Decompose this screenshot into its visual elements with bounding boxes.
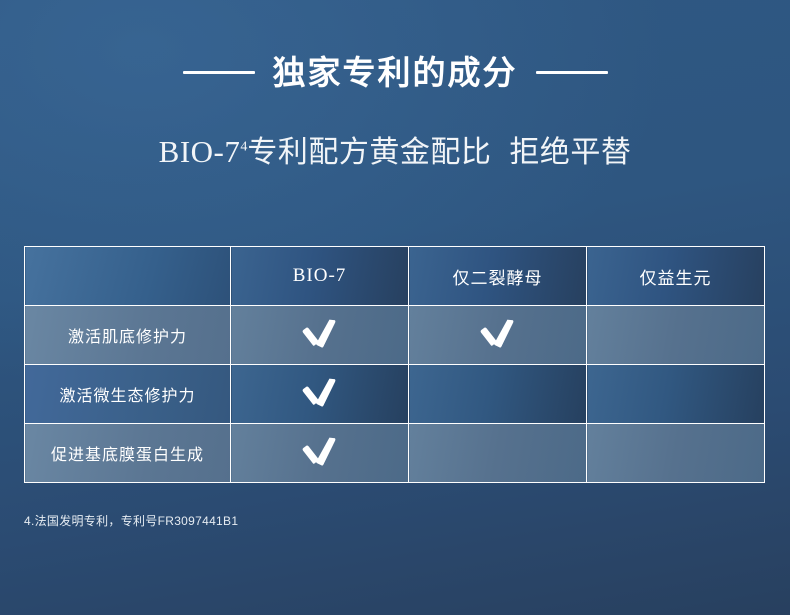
table-row: 激活微生态修护力 xyxy=(25,365,765,424)
cell-row1-bio7 xyxy=(231,306,409,365)
comparison-table: BIO-7 仅二裂酵母 仅益生元 激活肌底修护力 激活微生态修护力 xyxy=(24,246,765,483)
checkmark-icon xyxy=(478,316,518,350)
title-rule-right-icon xyxy=(536,71,608,74)
cell-row2-bio7 xyxy=(231,365,409,424)
cell-row3-yeast xyxy=(409,424,587,483)
section-title: 独家专利的成分 xyxy=(273,56,518,89)
table-header-yeast: 仅二裂酵母 xyxy=(409,247,587,306)
empty-cell xyxy=(409,377,586,411)
cell-row3-prebiotic xyxy=(587,424,765,483)
headline-text-secondary: 拒绝平替 xyxy=(509,136,631,169)
cell-row3-bio7 xyxy=(231,424,409,483)
empty-cell xyxy=(409,436,586,470)
empty-cell xyxy=(587,318,764,352)
promo-poster: 独家专利的成分 BIO-74专利配方黄金配比拒绝平替 BIO-7 仅二裂酵母 仅… xyxy=(0,0,790,615)
footnote: 4.法国发明专利，专利号FR3097441B1 xyxy=(24,512,238,529)
cell-row1-yeast xyxy=(409,306,587,365)
row-label-3: 促进基底膜蛋白生成 xyxy=(25,424,231,483)
section-title-row: 独家专利的成分 xyxy=(0,56,790,89)
checkmark-icon xyxy=(300,316,340,350)
empty-cell xyxy=(587,377,764,411)
comparison-table-wrapper: BIO-7 仅二裂酵母 仅益生元 激活肌底修护力 激活微生态修护力 xyxy=(24,246,764,483)
table-header-bio7: BIO-7 xyxy=(231,247,409,306)
row-label-1: 激活肌底修护力 xyxy=(25,306,231,365)
headline-text-primary: 专利配方黄金配比 xyxy=(247,136,491,169)
checkmark-icon xyxy=(300,434,340,468)
checkmark-icon xyxy=(300,375,340,409)
table-header-blank xyxy=(25,247,231,306)
table-row: 激活肌底修护力 xyxy=(25,306,765,365)
table-header-row: BIO-7 仅二裂酵母 仅益生元 xyxy=(25,247,765,306)
cell-row1-prebiotic xyxy=(587,306,765,365)
cell-row2-yeast xyxy=(409,365,587,424)
row-label-2: 激活微生态修护力 xyxy=(25,365,231,424)
table-row: 促进基底膜蛋白生成 xyxy=(25,424,765,483)
title-rule-left-icon xyxy=(183,71,255,74)
table-header-prebiotic: 仅益生元 xyxy=(587,247,765,306)
headline: BIO-74专利配方黄金配比拒绝平替 xyxy=(0,134,790,171)
headline-brand: BIO-7 xyxy=(159,134,241,169)
cell-row2-prebiotic xyxy=(587,365,765,424)
empty-cell xyxy=(587,436,764,470)
